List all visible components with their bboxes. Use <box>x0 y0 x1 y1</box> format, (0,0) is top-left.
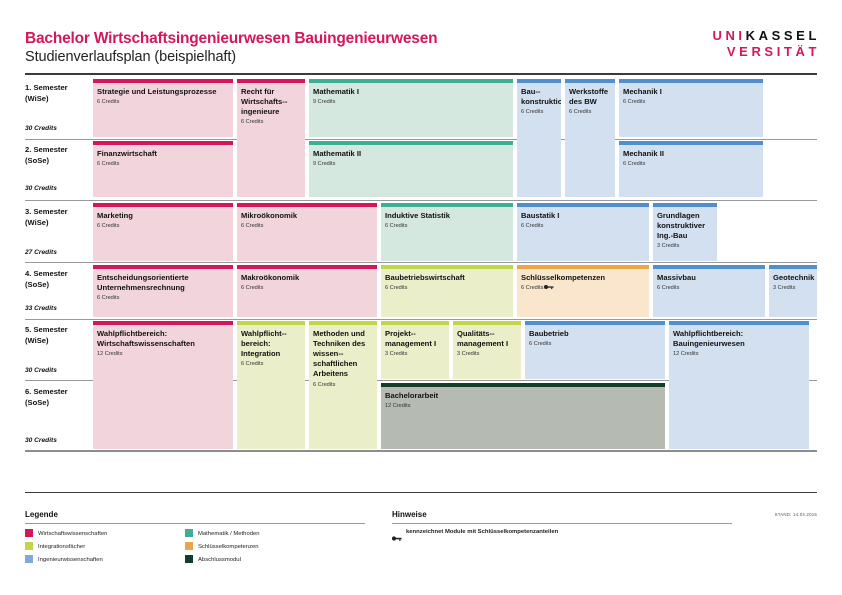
module-card[interactable]: Methoden und Techniken des wissen-­schaf… <box>309 321 377 449</box>
legend-label: Integrationsfächer <box>38 543 85 552</box>
legend-swatch <box>25 529 33 537</box>
legend-swatch <box>185 529 193 537</box>
module-body: Mikroökonomik6 Credits <box>237 207 377 262</box>
module-card[interactable]: Qualitäts-­management I3 Credits <box>453 321 521 379</box>
module-body: Geotechnik3 Credits <box>769 269 817 318</box>
semester-label-line1: 5. Semester <box>25 325 68 336</box>
key-competence-icon <box>544 284 554 293</box>
page-title: Bachelor Wirtschaftsingenieurwesen Bauin… <box>25 30 437 48</box>
module-body: Schlüsselkompetenzen6 Credits <box>517 269 649 318</box>
module-name: Wahlpflichtbereich: Bauingenieurwesen <box>673 329 805 349</box>
legend-heading: Legende <box>25 510 58 519</box>
module-credits: 3 Credits <box>773 284 813 292</box>
module-body: Induktive Statistik6 Credits <box>381 207 513 262</box>
revision-stamp: STAND: 14.04.2015 <box>775 512 817 517</box>
semester-label-2: 2. Semester(SoSe) <box>25 145 68 166</box>
hinweise-heading: Hinweise <box>392 510 427 519</box>
module-credits: 6 Credits <box>521 222 645 230</box>
module-card[interactable]: Werkstoffe des BW6 Credits <box>565 79 615 197</box>
module-name: Bachelorarbeit <box>385 391 661 401</box>
module-name: Geotechnik <box>773 273 813 283</box>
module-name: Makroökonomik <box>241 273 373 283</box>
semester-label-4: 4. Semester(SoSe) <box>25 269 68 290</box>
module-credits: 3 Credits <box>385 350 445 358</box>
logo-versitaet-text: VERSITÄT <box>727 44 820 59</box>
module-credits: 9 Credits <box>313 160 509 168</box>
semester-credits-2: 30 Credits <box>25 185 57 192</box>
module-credits: 6 Credits <box>97 98 229 106</box>
semester-label-6: 6. Semester(SoSe) <box>25 387 68 408</box>
semester-label-line2: (WiSe) <box>25 94 68 105</box>
semester-label-5: 5. Semester(WiSe) <box>25 325 68 346</box>
legend-swatch <box>185 555 193 563</box>
module-name: Schlüsselkompetenzen <box>521 273 645 283</box>
semester-credits-5: 30 Credits <box>25 367 57 374</box>
module-credits: 3 Credits <box>657 242 713 250</box>
module-card[interactable]: Makroökonomik6 Credits <box>237 265 377 317</box>
semester-credits-1: 30 Credits <box>25 125 57 132</box>
module-credits: 6 Credits <box>521 284 645 293</box>
semester-label-3: 3. Semester(WiSe) <box>25 207 68 228</box>
semester-label-line1: 6. Semester <box>25 387 68 398</box>
module-card[interactable]: Wahlpflicht-­bereich: Integration6 Credi… <box>237 321 305 449</box>
module-body: Baubetriebswirtschaft6 Credits <box>381 269 513 318</box>
module-credits: 6 Credits <box>623 160 759 168</box>
semester-label-line1: 2. Semester <box>25 145 68 156</box>
module-credits: 6 Credits <box>385 284 509 292</box>
semester-label-line2: (SoSe) <box>25 398 68 409</box>
module-name: Methoden und Techniken des wissen-­schaf… <box>313 329 373 380</box>
module-card[interactable]: Massivbau6 Credits <box>653 265 765 317</box>
module-card[interactable]: Baubetriebswirtschaft6 Credits <box>381 265 513 317</box>
logo-uni-text: UNI <box>712 28 745 43</box>
module-name: Baubetriebswirtschaft <box>385 273 509 283</box>
module-body: Bau-­konstruktion6 Credits <box>517 83 561 198</box>
module-credits: 6 Credits <box>569 108 611 116</box>
row-separator <box>25 262 817 263</box>
module-credits: 6 Credits <box>97 294 229 302</box>
module-credits: 3 Credits <box>457 350 517 358</box>
module-body: Marketing6 Credits <box>93 207 233 262</box>
module-body: Massivbau6 Credits <box>653 269 765 318</box>
module-name: Mikroökonomik <box>241 211 373 221</box>
module-credits: 6 Credits <box>657 284 761 292</box>
module-name: Wahlpflichtbereich: Wirtschaftswissensch… <box>97 329 229 349</box>
module-credits: 6 Credits <box>97 160 229 168</box>
module-card[interactable]: Strategie und Leistungsprozesse6 Credits <box>93 79 233 137</box>
module-name: Mathematik I <box>313 87 509 97</box>
module-card[interactable]: Baustatik I6 Credits <box>517 203 649 261</box>
university-logo: UNIKASSEL VERSITÄT <box>712 28 820 60</box>
module-name: Wahlpflicht-­bereich: Integration <box>241 329 301 360</box>
module-body: Strategie und Leistungsprozesse6 Credits <box>93 83 233 138</box>
row-separator <box>25 319 817 320</box>
module-body: Baustatik I6 Credits <box>517 207 649 262</box>
row-separator <box>25 139 817 140</box>
module-body: Projekt-­management I3 Credits <box>381 325 449 380</box>
module-name: Strategie und Leistungsprozesse <box>97 87 229 97</box>
module-credits: 12 Credits <box>97 350 229 358</box>
header-divider <box>25 73 817 75</box>
module-card[interactable]: Wahlpflichtbereich: Bauingenieurwesen12 … <box>669 321 809 449</box>
module-body: Entscheidungsorientierte Unternehmensrec… <box>93 269 233 318</box>
legend-swatch <box>185 542 193 550</box>
semester-credits-3: 27 Credits <box>25 249 57 256</box>
module-body: Wahlpflicht-­bereich: Integration6 Credi… <box>237 325 305 450</box>
module-body: Methoden und Techniken des wissen-­schaf… <box>309 325 377 450</box>
semester-label-line2: (WiSe) <box>25 336 68 347</box>
module-body: Mechanik I6 Credits <box>619 83 763 138</box>
module-body: Grundlagen konstruktiver Ing.-Bau3 Credi… <box>653 207 717 262</box>
module-body: Makroökonomik6 Credits <box>237 269 377 318</box>
module-credits: 9 Credits <box>313 98 509 106</box>
module-body: Wahlpflichtbereich: Wirtschaftswissensch… <box>93 325 233 450</box>
page-subtitle: Studienverlaufsplan (beispielhaft) <box>25 49 236 65</box>
module-name: Marketing <box>97 211 229 221</box>
module-credits: 6 Credits <box>313 381 373 389</box>
module-card[interactable]: Bachelorarbeit12 Credits <box>381 383 665 449</box>
module-body: Bachelorarbeit12 Credits <box>381 387 665 450</box>
module-card[interactable]: Geotechnik3 Credits <box>769 265 817 317</box>
hinweis-key-icon <box>392 529 402 547</box>
semester-credits-6: 30 Credits <box>25 437 57 444</box>
module-credits: 6 Credits <box>529 340 661 348</box>
module-body: Mathematik I9 Credits <box>309 83 513 138</box>
module-card[interactable]: Wahlpflichtbereich: Wirtschaftswissensch… <box>93 321 233 449</box>
module-card[interactable]: Recht für Wirtschafts-­ingenieure6 Credi… <box>237 79 305 197</box>
semester-label-line1: 1. Semester <box>25 83 68 94</box>
legend-swatch <box>25 542 33 550</box>
module-card[interactable]: Mikroökonomik6 Credits <box>237 203 377 261</box>
module-body: Finanzwirtschaft6 Credits <box>93 145 233 198</box>
legend-label: Wirtschaftswissenschaften <box>38 530 107 539</box>
semester-label-1: 1. Semester(WiSe) <box>25 83 68 104</box>
module-card[interactable]: Mathematik I9 Credits <box>309 79 513 137</box>
curriculum-page: Bachelor Wirtschaftsingenieurwesen Bauin… <box>0 0 842 595</box>
module-card[interactable]: Entscheidungsorientierte Unternehmensrec… <box>93 265 233 317</box>
legend-label: Schlüsselkompetenzen <box>198 543 259 552</box>
module-card[interactable]: Induktive Statistik6 Credits <box>381 203 513 261</box>
module-credits: 6 Credits <box>385 222 509 230</box>
semester-label-line2: (WiSe) <box>25 218 68 229</box>
hinweise-underline <box>392 523 732 524</box>
module-card[interactable]: Mechanik II6 Credits <box>619 141 763 197</box>
legend-label: Abschlussmodul <box>198 556 241 565</box>
legend-label: Ingenieurwissenschaften <box>38 556 103 565</box>
module-name: Mechanik II <box>623 149 759 159</box>
semester-label-line1: 3. Semester <box>25 207 68 218</box>
module-name: Baubetrieb <box>529 329 661 339</box>
module-credits: 12 Credits <box>385 402 661 410</box>
module-card[interactable]: Schlüsselkompetenzen6 Credits <box>517 265 649 317</box>
legend-swatch <box>25 555 33 563</box>
module-name: Recht für Wirtschafts-­ingenieure <box>241 87 301 118</box>
module-credits: 6 Credits <box>241 118 301 126</box>
module-credits: 6 Credits <box>623 98 759 106</box>
module-card[interactable]: Marketing6 Credits <box>93 203 233 261</box>
module-credits: 6 Credits <box>97 222 229 230</box>
module-credits: 6 Credits <box>521 108 557 116</box>
module-name: Induktive Statistik <box>385 211 509 221</box>
semester-label-line1: 4. Semester <box>25 269 68 280</box>
module-name: Mathematik II <box>313 149 509 159</box>
module-name: Grundlagen konstruktiver Ing.-Bau <box>657 211 713 242</box>
module-card[interactable]: Mechanik I6 Credits <box>619 79 763 137</box>
semester-label-line2: (SoSe) <box>25 280 68 291</box>
semester-credits-4: 33 Credits <box>25 305 57 312</box>
module-name: Mechanik I <box>623 87 759 97</box>
module-name: Entscheidungsorientierte Unternehmensrec… <box>97 273 229 293</box>
row-separator <box>25 200 817 201</box>
module-name: Baustatik I <box>521 211 645 221</box>
module-body: Wahlpflichtbereich: Bauingenieurwesen12 … <box>669 325 809 450</box>
module-card[interactable]: Baubetrieb6 Credits <box>525 321 665 379</box>
module-body: Qualitäts-­management I3 Credits <box>453 325 521 380</box>
module-name: Qualitäts-­management I <box>457 329 517 349</box>
module-card[interactable]: Finanzwirtschaft6 Credits <box>93 141 233 197</box>
module-body: Werkstoffe des BW6 Credits <box>565 83 615 198</box>
module-name: Finanzwirtschaft <box>97 149 229 159</box>
module-body: Mechanik II6 Credits <box>619 145 763 198</box>
module-name: Projekt-­management I <box>385 329 445 349</box>
module-body: Recht für Wirtschafts-­ingenieure6 Credi… <box>237 83 305 198</box>
module-card[interactable]: Bau-­konstruktion6 Credits <box>517 79 561 197</box>
study-plan-grid: 1. Semester(WiSe)30 Credits2. Semester(S… <box>25 79 817 451</box>
logo-kassel-text: KASSEL <box>746 28 820 43</box>
module-name: Massivbau <box>657 273 761 283</box>
legend-underline <box>25 523 365 524</box>
module-credits: 6 Credits <box>241 360 301 368</box>
legend-label: Mathematik / Methoden <box>198 530 260 539</box>
semester-label-line2: (SoSe) <box>25 156 68 167</box>
module-card[interactable]: Grundlagen konstruktiver Ing.-Bau3 Credi… <box>653 203 717 261</box>
module-card[interactable]: Projekt-­management I3 Credits <box>381 321 449 379</box>
module-credits: 6 Credits <box>241 222 373 230</box>
module-credits: 12 Credits <box>673 350 805 358</box>
module-name: Werkstoffe des BW <box>569 87 611 107</box>
module-body: Baubetrieb6 Credits <box>525 325 665 380</box>
hinweis-note: kennzeichnet Module mit Schlüsselkompete… <box>406 529 558 535</box>
module-name: Bau-­konstruktion <box>521 87 557 107</box>
module-credits: 6 Credits <box>241 284 373 292</box>
row-separator <box>25 450 817 452</box>
footer-divider <box>25 492 817 493</box>
module-card[interactable]: Mathematik II9 Credits <box>309 141 513 197</box>
module-body: Mathematik II9 Credits <box>309 145 513 198</box>
